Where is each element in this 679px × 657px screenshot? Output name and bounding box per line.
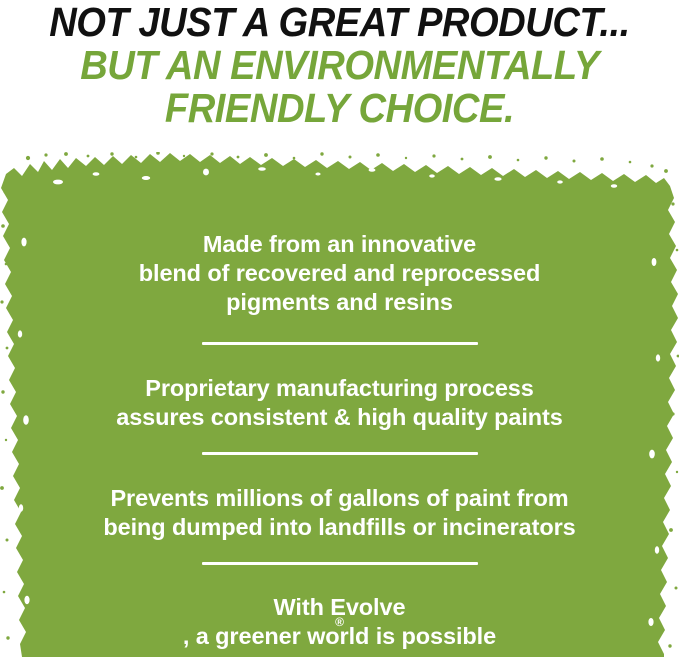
headline-line-2: BUT AN ENVIRONMENTALLY	[24, 45, 655, 86]
feature-1-line-2: blend of recovered and reprocessed	[0, 259, 679, 288]
feature-item-1: Made from an innovative blend of recover…	[0, 230, 679, 317]
feature-item-4: With Evolve®, a greener world is possibl…	[0, 593, 679, 651]
feature-item-2: Proprietary manufacturing process assure…	[0, 374, 679, 432]
headline-block: NOT JUST A GREAT PRODUCT... BUT AN ENVIR…	[0, 0, 679, 129]
feature-4-tail-text: , a greener world is possible	[0, 622, 679, 651]
headline-line-3: FRIENDLY CHOICE.	[24, 88, 655, 129]
feature-4-line-1: With Evolve®, a greener world is possibl…	[0, 593, 679, 651]
feature-1-line-3: pigments and resins	[0, 288, 679, 317]
divider-2	[202, 452, 478, 455]
feature-2-line-1: Proprietary manufacturing process	[0, 374, 679, 403]
headline-line-1: NOT JUST A GREAT PRODUCT...	[24, 2, 655, 43]
feature-3-line-2: being dumped into landfills or incinerat…	[0, 513, 679, 542]
feature-3-line-1: Prevents millions of gallons of paint fr…	[0, 484, 679, 513]
green-feature-panel: Made from an innovative blend of recover…	[0, 152, 679, 657]
panel-content: Made from an innovative blend of recover…	[0, 152, 679, 657]
feature-item-3: Prevents millions of gallons of paint fr…	[0, 484, 679, 542]
divider-3	[202, 562, 478, 565]
divider-1	[202, 342, 478, 345]
feature-1-line-1: Made from an innovative	[0, 230, 679, 259]
feature-2-line-2: assures consistent & high quality paints	[0, 403, 679, 432]
